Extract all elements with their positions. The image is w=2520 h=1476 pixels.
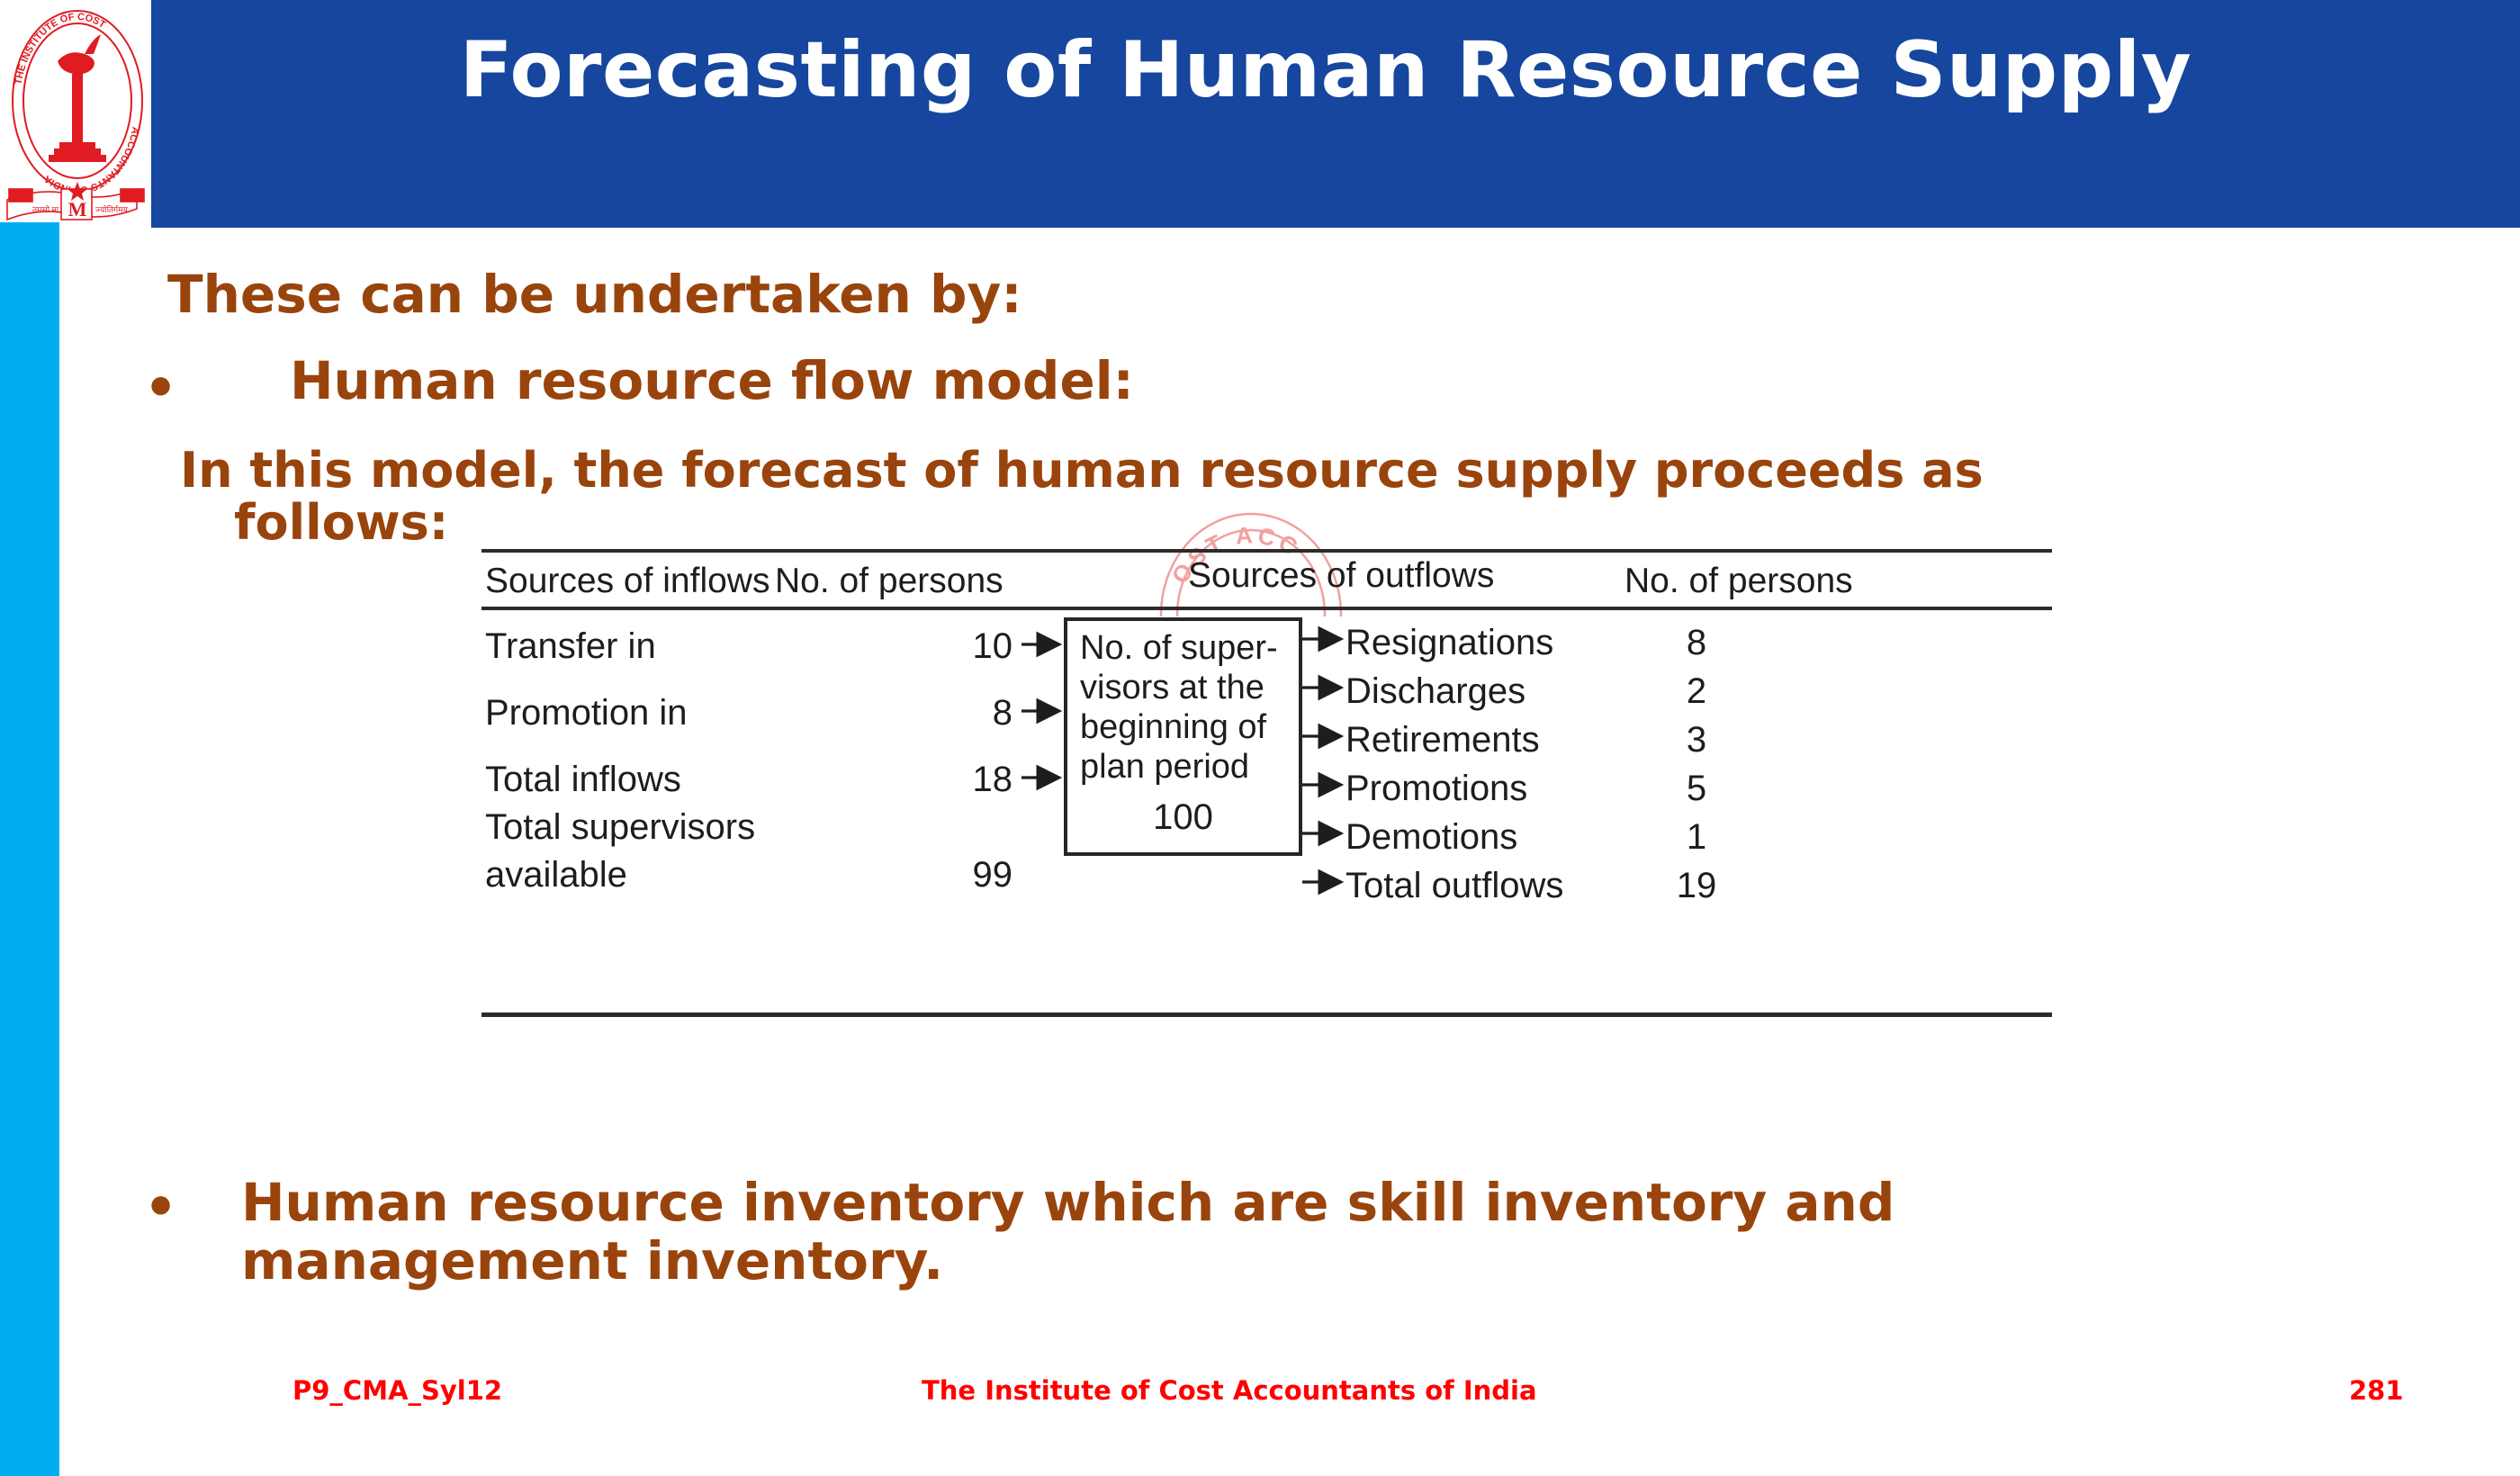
outflow-row-label: Retirements — [1345, 720, 1540, 760]
page-title: Forecasting of Human Resource Supply — [151, 25, 2500, 115]
logo-monogram: M — [68, 198, 87, 220]
logo-ribbon-left: तमसो मा — [32, 204, 59, 214]
outflow-row-value: 8 — [1642, 623, 1750, 663]
model-description-line1: In this model, the forecast of human res… — [180, 442, 1984, 499]
model-description: In this model, the forecast of human res… — [180, 445, 2448, 550]
outflow-row-value: 5 — [1642, 769, 1750, 809]
logo-ribbon-right: ज्योतिर्गमय — [95, 204, 129, 214]
outflow-arrows — [481, 549, 2052, 1017]
bullet-item-hr-inventory-line1: Human resource inventory which are skill… — [241, 1172, 1894, 1233]
bullet-glyph: • — [144, 360, 177, 417]
logo-svg: THE INSTITUTE OF COST ACCOUNTANTS OF IND… — [5, 4, 149, 229]
outflow-row-value: 2 — [1642, 671, 1750, 712]
intro-line: These can be undertaken by: — [167, 266, 1022, 323]
human-resource-flow-table: Sources of inflows No. of persons Source… — [481, 549, 2052, 1017]
bullet-item-flow-model: Human resource flow model: — [290, 353, 1134, 409]
institute-logo: THE INSTITUTE OF COST ACCOUNTANTS OF IND… — [5, 4, 149, 229]
model-description-line2: follows: — [234, 497, 2448, 549]
bullet-glyph: • — [144, 1179, 177, 1236]
footer-page-number: 281 — [2349, 1375, 2404, 1406]
footer-institute-name: The Institute of Cost Accountants of Ind… — [922, 1375, 1537, 1406]
left-accent-stripe — [0, 222, 59, 1476]
outflow-row-value: 3 — [1642, 720, 1750, 760]
outflow-row-label: Discharges — [1345, 671, 1525, 712]
outflow-row-label: Promotions — [1345, 769, 1527, 809]
outflow-row-label: Total outflows — [1345, 866, 1563, 906]
outflow-row-label: Demotions — [1345, 817, 1517, 858]
outflow-row-value: 19 — [1642, 866, 1750, 906]
footer-course-code: P9_CMA_Syl12 — [292, 1375, 502, 1406]
outflow-row-label: Resignations — [1345, 623, 1553, 663]
outflow-row-value: 1 — [1642, 817, 1750, 858]
bullet-item-hr-inventory: Human resource inventory which are skill… — [241, 1174, 2455, 1291]
bullet-item-hr-inventory-line2: management inventory. — [241, 1232, 2455, 1291]
